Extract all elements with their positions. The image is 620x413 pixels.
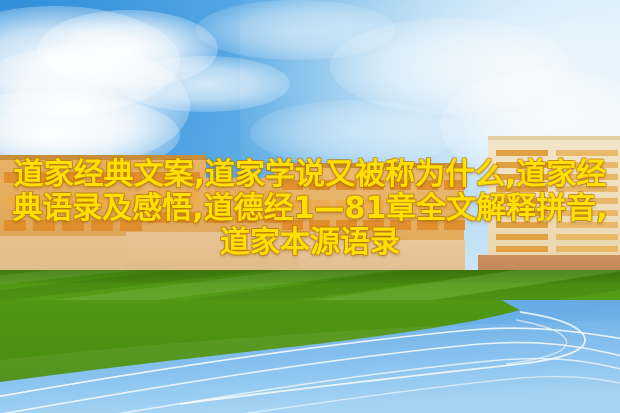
building-window — [148, 212, 170, 223]
building-window — [62, 220, 84, 231]
building-window — [177, 212, 199, 223]
campus-scene-image: 道家经典文案,道家学说又被称为什么,道家经典语录及感悟,道德经1—81章全文解释… — [0, 0, 620, 413]
window-band — [556, 210, 618, 216]
building-window — [91, 172, 113, 183]
running-track — [0, 300, 620, 413]
building-window — [62, 172, 84, 183]
window-band — [496, 198, 548, 204]
building-window — [282, 180, 303, 190]
building-window — [148, 190, 170, 201]
building-window — [417, 200, 438, 210]
window-band — [496, 210, 548, 216]
building-window — [390, 220, 411, 230]
building-window — [178, 172, 200, 183]
window-band — [496, 186, 548, 192]
window-band — [496, 150, 548, 156]
building-window — [4, 172, 26, 183]
window-band — [496, 222, 548, 228]
building-window — [309, 200, 330, 210]
running-track-surface — [0, 300, 620, 413]
window-band — [496, 246, 548, 252]
building-window — [4, 196, 26, 207]
building-window — [363, 180, 384, 190]
building-window — [444, 220, 465, 230]
building-window — [33, 172, 55, 183]
building-window — [62, 196, 84, 207]
window-band — [556, 174, 618, 180]
building-window — [444, 200, 465, 210]
building-window — [309, 220, 330, 230]
building-window — [149, 172, 171, 183]
window-band — [556, 150, 618, 156]
building-window — [282, 200, 303, 210]
building-window — [444, 180, 465, 190]
building-window — [235, 212, 257, 223]
building-window — [336, 180, 357, 190]
building-window — [363, 200, 384, 210]
building-window — [390, 200, 411, 210]
window-band — [556, 162, 618, 168]
building-window — [206, 212, 228, 223]
building-window — [235, 190, 257, 201]
building-window — [33, 196, 55, 207]
window-band — [556, 234, 618, 240]
building-window — [417, 180, 438, 190]
building-window — [120, 196, 142, 207]
building-window — [417, 220, 438, 230]
window-band — [556, 198, 618, 204]
building-window — [120, 172, 142, 183]
window-band — [556, 222, 618, 228]
building-window — [206, 190, 228, 201]
building-window — [390, 180, 411, 190]
window-band — [496, 162, 548, 168]
window-band — [556, 186, 618, 192]
building-window — [91, 196, 113, 207]
building-window — [363, 220, 384, 230]
building-window — [91, 220, 113, 231]
building-window — [4, 220, 26, 231]
building-window — [282, 220, 303, 230]
building-window — [309, 180, 330, 190]
building-window — [177, 190, 199, 201]
building-window — [336, 200, 357, 210]
building-window — [33, 220, 55, 231]
window-band — [496, 234, 548, 240]
building-window — [120, 220, 142, 231]
window-band — [496, 174, 548, 180]
building-window — [336, 220, 357, 230]
window-band — [556, 246, 618, 252]
